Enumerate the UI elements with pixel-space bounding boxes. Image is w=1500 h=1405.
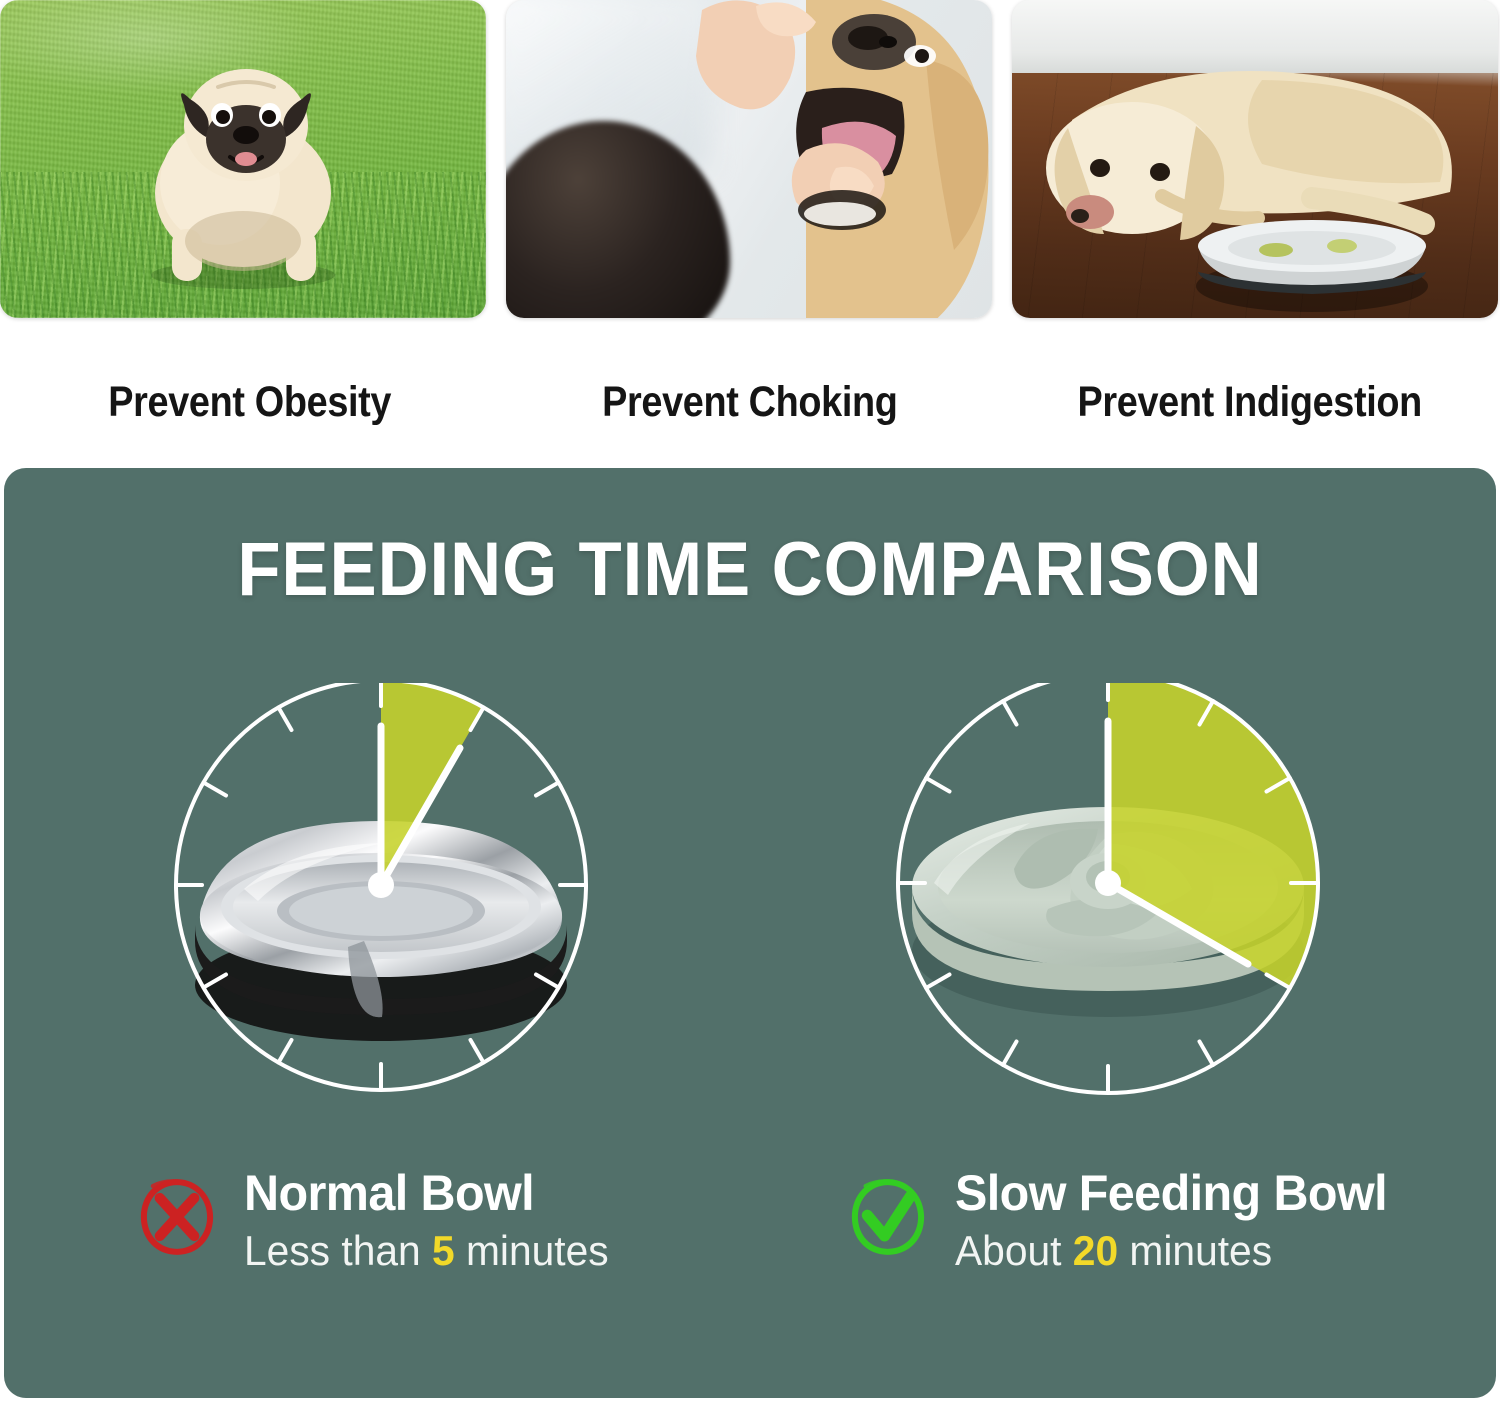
caption-cell-obesity: Prevent Obesity [0,330,500,468]
normal-bowl-minutes-value: 5 [432,1227,455,1274]
result-title-normal-bowl: Normal Bowl [244,1168,609,1219]
benefits-photo-strip [0,0,1500,330]
result-text-normal-bowl: Normal Bowl Less than 5 minutes [244,1168,620,1273]
slow-bowl-sub-prefix: About [955,1227,1073,1274]
normal-bowl-sub-prefix: Less than [244,1227,432,1274]
caption-prevent-obesity: Prevent Obesity [109,378,392,427]
dial-center-dot [368,872,394,898]
result-subtitle-slow-feeding-bowl: About 20 minutes [955,1229,1387,1273]
benefit-captions-row: Prevent Obesity Prevent Choking Prevent … [0,330,1500,468]
pug-illustration [118,43,368,293]
caption-prevent-indigestion: Prevent Indigestion [1078,378,1422,427]
comparison-results-row: Normal Bowl Less than 5 minutes Slow Fee… [4,1168,1496,1273]
clock-dial-slow-feeding-bowl [898,683,1319,1093]
caption-cell-indigestion: Prevent Indigestion [1000,330,1500,468]
slow-bowl-minutes-value: 20 [1073,1227,1118,1274]
benefit-photo-prevent-choking [506,0,992,318]
clock-dial-normal-bowl [176,683,586,1090]
check-circle-icon [845,1174,931,1260]
result-text-slow-feeding-bowl: Slow Feeding Bowl About 20 minutes [955,1168,1400,1273]
result-subtitle-normal-bowl: Less than 5 minutes [244,1229,609,1273]
benefit-photo-prevent-obesity [0,0,486,318]
feeding-time-comparison-panel: FEEDING TIME COMPARISON [4,468,1496,1398]
cross-circle-icon [134,1174,220,1260]
caption-prevent-choking: Prevent Choking [602,378,897,427]
result-normal-bowl: Normal Bowl Less than 5 minutes [4,1168,750,1273]
normal-bowl-sub-suffix: minutes [455,1227,609,1274]
benefit-photo-prevent-indigestion [1012,0,1498,318]
page-title: FEEDING TIME COMPARISON [56,526,1444,613]
result-slow-feeding-bowl: Slow Feeding Bowl About 20 minutes [750,1168,1496,1273]
caption-cell-choking: Prevent Choking [500,330,1000,468]
labrador-and-bowl-illustration [1012,0,1498,318]
slow-bowl-sub-suffix: minutes [1118,1227,1272,1274]
clock-dials-svg [4,683,1496,1123]
result-title-slow-feeding-bowl: Slow Feeding Bowl [955,1168,1387,1219]
clock-dials-row [4,683,1496,1123]
dial-center-dot [1095,870,1121,896]
